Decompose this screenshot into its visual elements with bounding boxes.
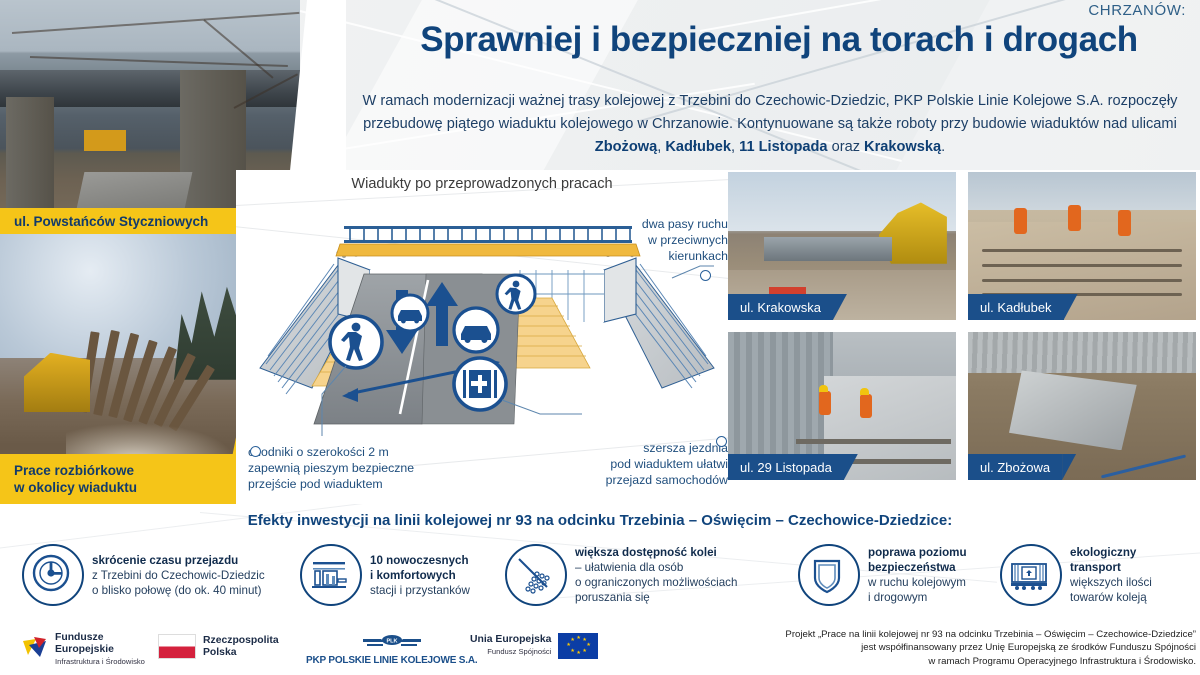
rp-line-1: Rzeczpospolita [203,635,279,646]
caption-line-2: w okolicy wiaduktu [14,479,137,496]
effect-text: poprawa poziomu bezpieczeństwa w ruchu k… [868,545,967,605]
callout-line-1: szersza jezdnia [560,440,728,456]
effect-line-3: towarów koleją [1070,591,1147,604]
effect-line-3: w ruchu kolejowym [868,576,966,589]
pkp-logo-text: PKP POLSKIE LINIE KOLEJOWE S.A. [306,655,477,666]
callout-line-1: dwa pasy ruchu [620,216,728,232]
callout-line-2: pod wiaduktem ułatwi [560,456,728,472]
photo-ul-zbozowa: ul. Zbożowa [968,332,1196,480]
shield-icon [798,544,860,606]
callout-line-2: zapewnią pieszym bezpieczne [248,460,458,476]
ue-sub: Fundusz Spójności [470,646,551,658]
photo-caption: ul. Kadłubek [968,294,1064,320]
polish-flag-icon [158,634,196,659]
project-line-3: w ramach Programu Operacyjnego Infrastru… [928,656,1196,667]
effects-title: Efekty inwestycji na linii kolejowej nr … [0,512,1200,529]
effect-item-safety: poprawa poziomu bezpieczeństwa w ruchu k… [798,544,1008,606]
lead-paragraph: W ramach modernizacji ważnej trasy kolej… [352,90,1188,159]
clock-icon [22,544,84,606]
effect-line-2: i komfortowych [370,569,456,582]
callout-two-lanes: dwa pasy ruchu w przeciwnych kierunkach [620,216,728,264]
effect-text: 10 nowoczesnych i komfortowych stacji i … [370,553,470,598]
lead-sep-3: oraz [828,139,865,155]
callout-dot-roadway [716,436,727,447]
effect-item-accessibility: większa dostępność kolei – ułatwienia dl… [505,544,805,606]
infographic-root: CHRZANÓW: Sprawniej i bezpieczniej na to… [0,0,1200,675]
svg-text:PLK: PLK [386,639,397,645]
fe-mark-icon [22,635,48,665]
caption-powstancow-styczniowych: ul. Powstańców Styczniowych [0,208,266,234]
effect-text: większa dostępność kolei – ułatwienia dl… [575,545,737,605]
project-line-1: Projekt „Prace na linii kolejowej nr 93 … [785,629,1196,640]
project-funding-note: Projekt „Prace na linii kolejowej nr 93 … [600,628,1196,668]
fe-line-2: Europejskie [55,644,114,655]
project-line-2: jest współfinansowany przez Unię Europej… [861,642,1196,653]
rp-logo-text: Rzeczpospolita Polska [203,635,279,659]
street-zbozowa: Zbożową [595,139,657,155]
kicker-chrzanow: CHRZANÓW: [1088,2,1186,19]
effect-line-2: – ułatwienia dla osób [575,561,683,574]
street-kadlubek: Kadłubek [665,139,731,155]
footer: Fundusze Europejskie Infrastruktura i Śr… [0,620,1200,675]
effect-line-3: o blisko połowę (do ok. 40 minut) [92,584,262,597]
accessibility-ramp-icon [505,544,567,606]
callout-line-1: chodniki o szerokości 2 m [248,444,458,460]
caption-line-1: Prace rozbiórkowe [14,462,137,479]
callout-roadway: szersza jezdnia pod wiaduktem ułatwi prz… [560,440,728,488]
effect-item-travel-time: skrócenie czasu przejazdu z Trzebini do … [22,544,312,606]
callout-dot-lanes [700,270,711,281]
pkp-plk-logo: PLK PKP POLSKIE LINIE KOLEJOWE S.A. [306,632,477,666]
callout-line-3: przejazd samochodów [560,472,728,488]
photo-grid: ul. Krakowska ul. Kadłubek [728,172,1196,492]
photo-caption: ul. Zbożowa [968,454,1062,480]
effect-line-2: bezpieczeństwa [868,561,956,574]
effect-line-3: stacji i przystanków [370,584,470,597]
lead-sep-2: , [731,139,739,155]
effect-line-4: poruszania się [575,591,650,604]
diagram-heading: Wiadukty po przeprowadzonych pracach [236,176,728,192]
rzeczpospolita-polska-logo: Rzeczpospolita Polska [158,634,279,659]
effect-line-2: z Trzebini do Czechowic-Dziedzic [92,569,265,582]
fe-logo-text: Fundusze Europejskie Infrastruktura i Śr… [55,632,145,668]
caption-prace-rozbiorkowe: Prace rozbiórkowe w okolicy wiaduktu [0,454,250,504]
ue-line-1: Unia Europejska [470,634,551,645]
unia-europejska-logo: Unia Europejska Fundusz Spójności ★ ★ ★ … [470,633,598,659]
photo-ul-kadlubek: ul. Kadłubek [968,172,1196,320]
effect-line-2: większych ilości [1070,576,1152,589]
rp-line-2: Polska [203,647,237,658]
effect-text: skrócenie czasu przejazdu z Trzebini do … [92,553,265,598]
eu-flag-icon: ★ ★ ★ ★ ★ ★ ★ ★ [558,633,598,659]
page-title: Sprawniej i bezpieczniej na torach i dro… [370,18,1188,62]
photo-caption: ul. 29 Listopada [728,454,844,480]
effect-text: ekologiczny transport większych ilości t… [1070,545,1190,605]
effect-line-1: większa dostępność kolei [575,546,717,559]
pkp-wings-icon: PLK [363,632,421,648]
freight-wagon-icon [1000,544,1062,606]
callout-sidewalks: chodniki o szerokości 2 m zapewnią piesz… [248,444,458,492]
station-icon [300,544,362,606]
lead-period: . [941,139,945,155]
effect-line-3: o ograniczonych możliwościach [575,576,737,589]
callout-line-2: w przeciwnych [620,232,728,248]
street-krakowska: Krakowską [864,139,941,155]
effect-item-stations: 10 nowoczesnych i komfortowych stacji i … [300,544,500,606]
effect-line-1: 10 nowoczesnych [370,554,469,567]
photo-ul-29-listopada: ul. 29 Listopada [728,332,956,480]
photo-ul-krakowska: ul. Krakowska [728,172,956,320]
street-11-listopada: 11 Listopada [739,139,827,155]
effect-line-1: ekologiczny transport [1070,546,1136,574]
fe-line-1: Fundusze [55,632,104,643]
fe-sub: Infrastruktura i Środowisko [55,656,145,668]
fundusze-europejskie-logo: Fundusze Europejskie Infrastruktura i Śr… [22,632,145,668]
effect-line-1: skrócenie czasu przejazdu [92,554,238,567]
callout-line-3: kierunkach [620,248,728,264]
lead-text: W ramach modernizacji ważnej trasy kolej… [363,93,1178,132]
callout-dot-sidewalks [250,446,261,457]
photo-caption: ul. Krakowska [728,294,833,320]
effect-item-freight: ekologiczny transport większych ilości t… [1000,544,1190,606]
effect-line-1: poprawa poziomu [868,546,967,559]
ue-logo-text: Unia Europejska Fundusz Spójności [470,634,551,658]
callout-line-3: przejście pod wiaduktem [248,476,458,492]
effect-line-4: i drogowym [868,591,927,604]
